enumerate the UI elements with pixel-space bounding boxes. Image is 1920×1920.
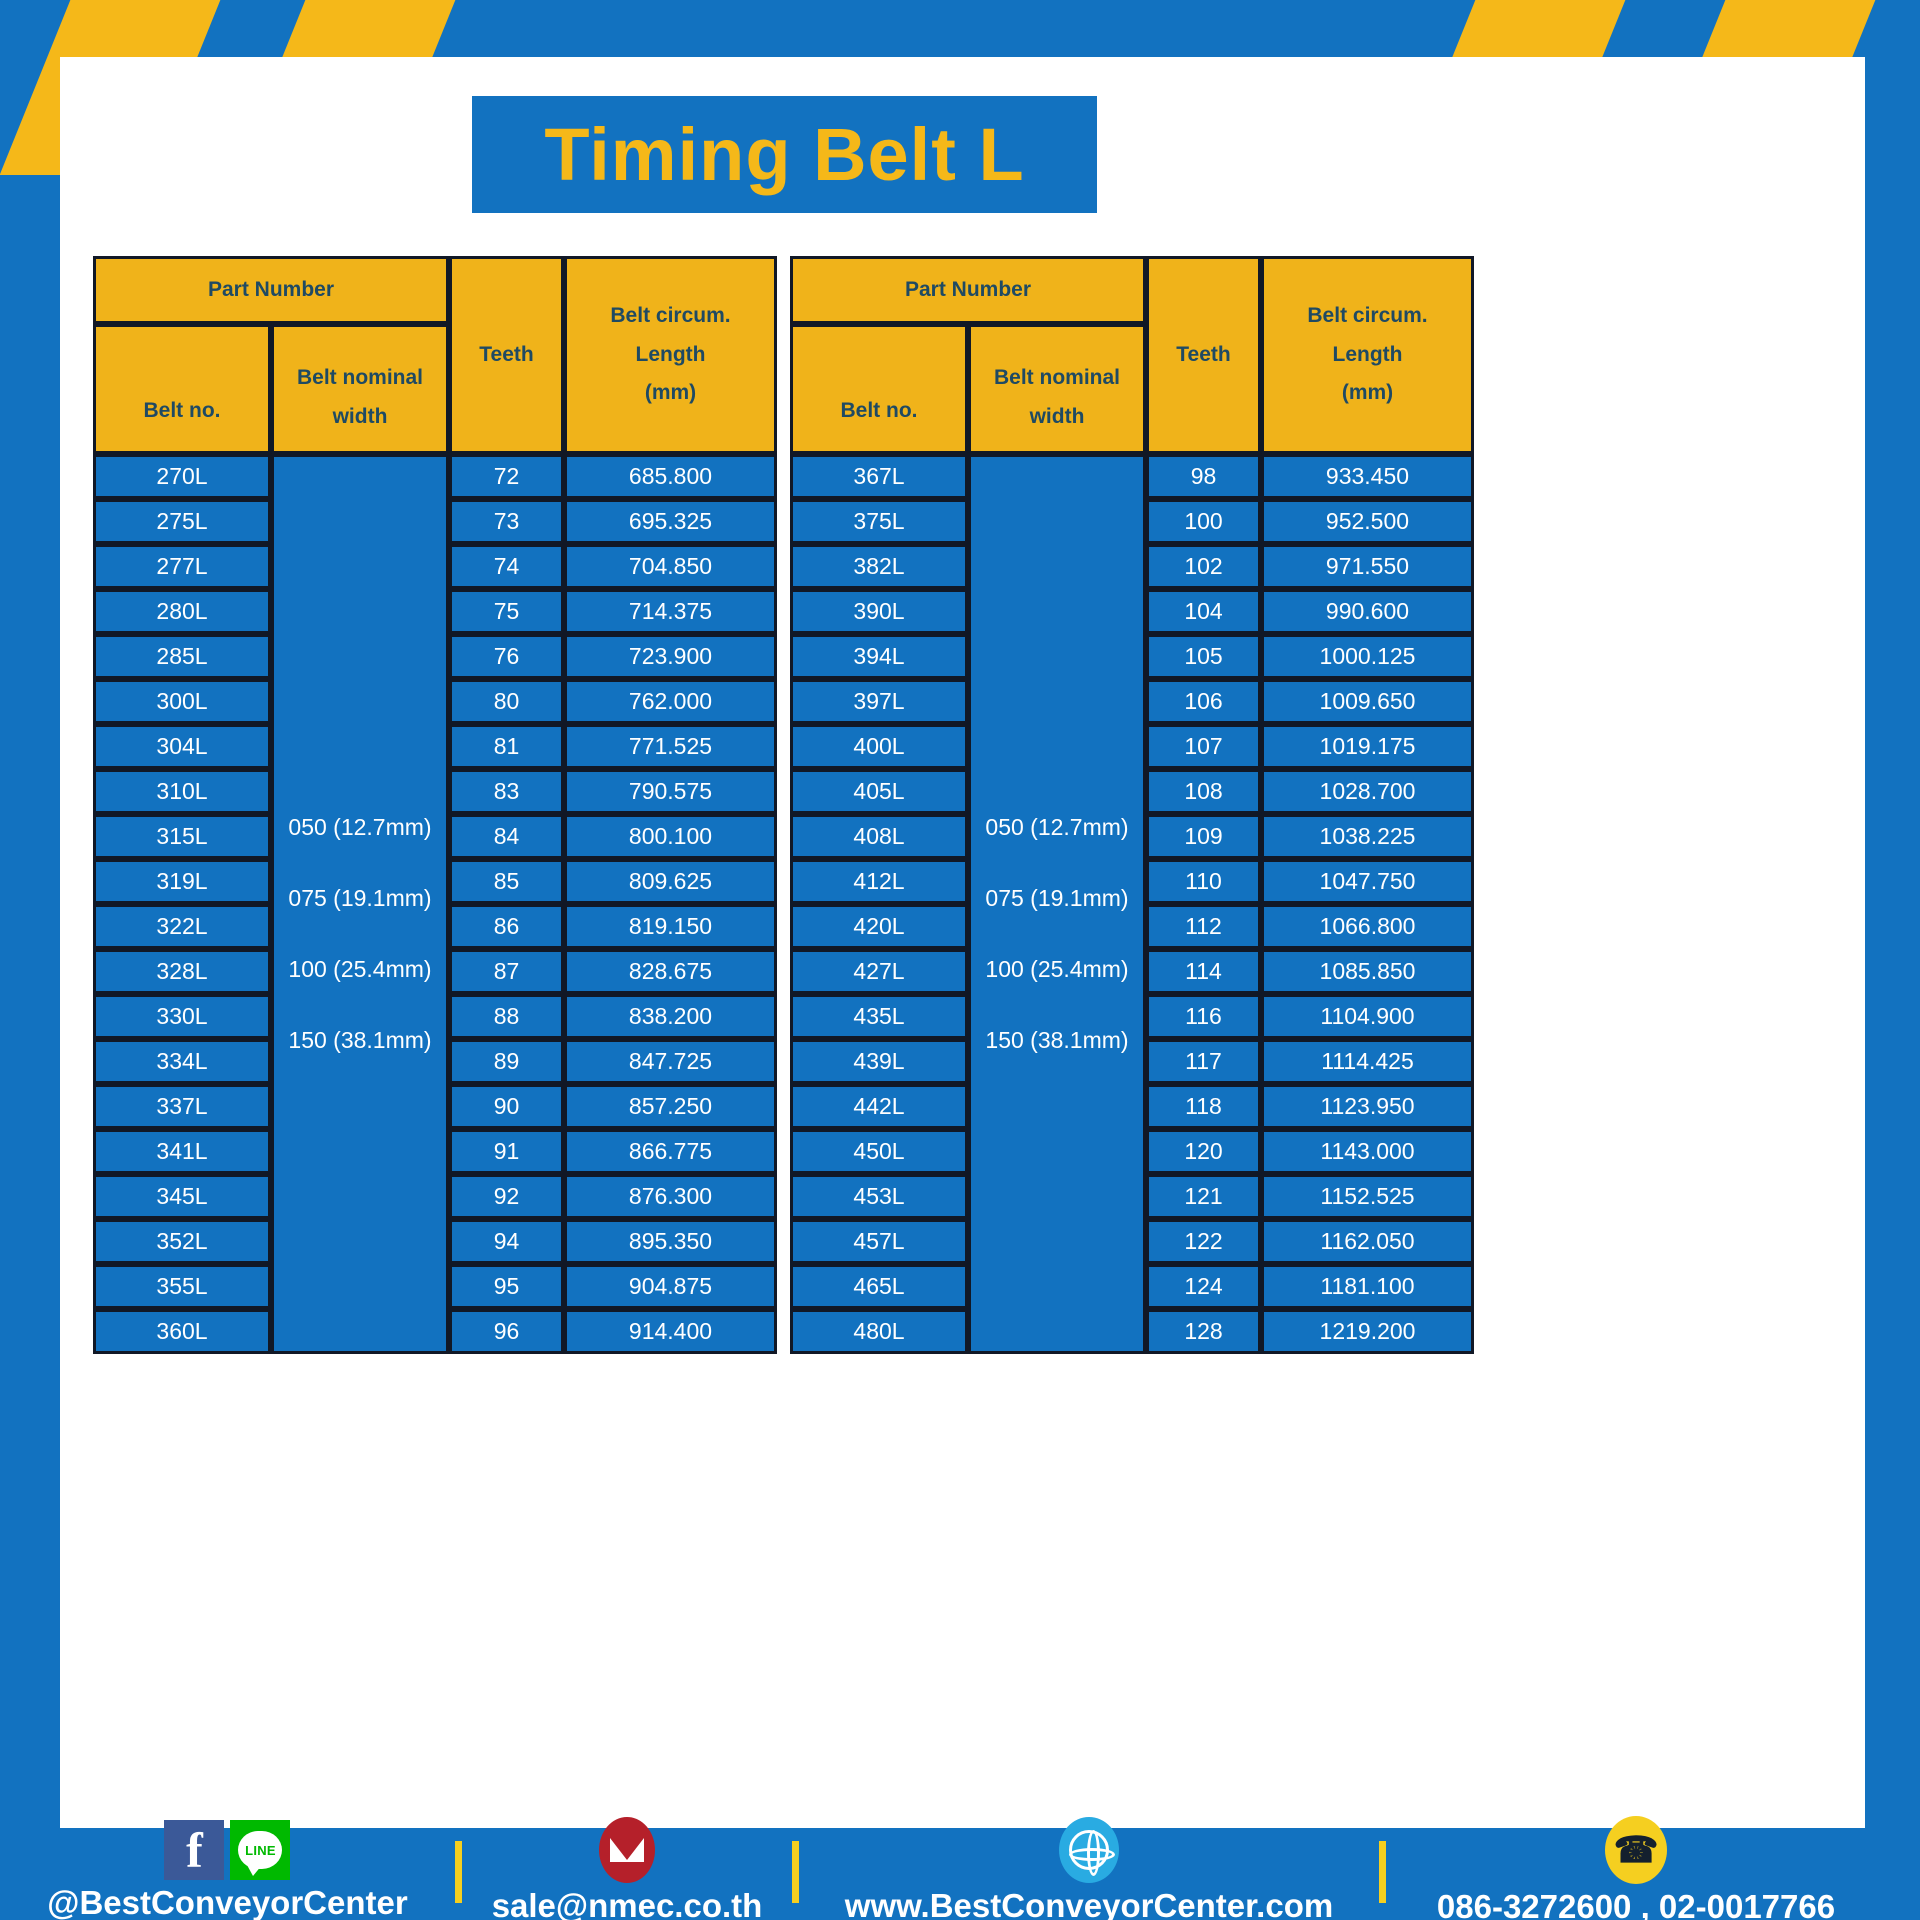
cell-length-mm: 809.625 <box>564 859 777 904</box>
globe-icon[interactable] <box>1059 1817 1119 1883</box>
cell-teeth: 110 <box>1146 859 1261 904</box>
cell-belt-nominal-width: 050 (12.7mm)075 (19.1mm)100 (25.4mm)150 … <box>271 454 449 1354</box>
page-title-box: Timing Belt L <box>472 96 1097 213</box>
header-belt-circum-left: Belt circum. Length (mm) <box>564 256 777 454</box>
cell-length-mm: 857.250 <box>564 1084 777 1129</box>
cell-teeth: 105 <box>1146 634 1261 679</box>
cell-length-mm: 800.100 <box>564 814 777 859</box>
cell-belt-no: 277L <box>93 544 271 589</box>
footer-facebook-group[interactable]: f LINE @BestConveyorCenter <box>0 1828 455 1920</box>
facebook-inner: f LINE @BestConveyorCenter <box>47 1820 407 1920</box>
cell-teeth: 88 <box>449 994 564 1039</box>
cell-belt-no: 270L <box>93 454 271 499</box>
width-option-3: 150 (38.1mm) <box>274 1005 446 1076</box>
cell-teeth: 73 <box>449 499 564 544</box>
width-option-2: 100 (25.4mm) <box>274 934 446 1005</box>
cell-belt-no: 394L <box>790 634 968 679</box>
cell-length-mm: 904.875 <box>564 1264 777 1309</box>
cell-belt-no: 355L <box>93 1264 271 1309</box>
cell-belt-no: 397L <box>790 679 968 724</box>
cell-belt-no: 322L <box>93 904 271 949</box>
facebook-icon[interactable]: f <box>164 1820 224 1880</box>
cell-belt-no: 465L <box>790 1264 968 1309</box>
cell-teeth: 85 <box>449 859 564 904</box>
cell-teeth: 89 <box>449 1039 564 1084</box>
cell-length-mm: 1162.050 <box>1261 1219 1474 1264</box>
cell-belt-no: 275L <box>93 499 271 544</box>
footer-website-group[interactable]: www.BestConveyorCenter.com <box>799 1828 1379 1920</box>
width-option-list: 050 (12.7mm)075 (19.1mm)100 (25.4mm)150 … <box>274 642 446 1166</box>
cell-teeth: 90 <box>449 1084 564 1129</box>
cell-teeth: 91 <box>449 1129 564 1174</box>
header-belt-no-left: Belt no. <box>93 324 271 454</box>
cell-teeth: 107 <box>1146 724 1261 769</box>
cell-teeth: 87 <box>449 949 564 994</box>
width-option-0: 050 (12.7mm) <box>971 792 1143 863</box>
width-option-2: 100 (25.4mm) <box>971 934 1143 1005</box>
header-width-line2-right: width <box>971 398 1143 437</box>
header-belt-width-left: Belt nominal width <box>271 324 449 454</box>
cell-length-mm: 1219.200 <box>1261 1309 1474 1354</box>
footer-divider-2 <box>792 1841 799 1903</box>
cell-teeth: 128 <box>1146 1309 1261 1354</box>
cell-belt-no: 360L <box>93 1309 271 1354</box>
infographic-page: Timing Belt L Part Number Teeth Belt cir… <box>0 0 1920 1920</box>
cell-belt-no: 405L <box>790 769 968 814</box>
line-icon[interactable]: LINE <box>230 1820 290 1880</box>
cell-teeth: 74 <box>449 544 564 589</box>
cell-length-mm: 838.200 <box>564 994 777 1039</box>
phone-icon[interactable]: ☎ <box>1605 1816 1667 1884</box>
cell-length-mm: 771.525 <box>564 724 777 769</box>
cell-teeth: 80 <box>449 679 564 724</box>
cell-length-mm: 914.400 <box>564 1309 777 1354</box>
cell-belt-no: 400L <box>790 724 968 769</box>
cell-length-mm: 933.450 <box>1261 454 1474 499</box>
cell-teeth: 104 <box>1146 589 1261 634</box>
footer-divider-1 <box>455 1841 462 1903</box>
cell-teeth: 84 <box>449 814 564 859</box>
header-circum-line2-right: Length <box>1264 336 1471 375</box>
cell-belt-no: 420L <box>790 904 968 949</box>
width-option-0: 050 (12.7mm) <box>274 792 446 863</box>
footer-bar: f LINE @BestConveyorCenter sale@nmec.co.… <box>0 1828 1920 1920</box>
email-address: sale@nmec.co.th <box>492 1887 763 1920</box>
cell-length-mm: 1038.225 <box>1261 814 1474 859</box>
cell-teeth: 75 <box>449 589 564 634</box>
cell-length-mm: 685.800 <box>564 454 777 499</box>
cell-length-mm: 1009.650 <box>1261 679 1474 724</box>
cell-length-mm: 1181.100 <box>1261 1264 1474 1309</box>
cell-teeth: 98 <box>1146 454 1261 499</box>
cell-length-mm: 895.350 <box>564 1219 777 1264</box>
phone-inner: ☎ 086-3272600 , 02-0017766 <box>1437 1816 1835 1920</box>
cell-belt-no: 450L <box>790 1129 968 1174</box>
cell-belt-no: 315L <box>93 814 271 859</box>
cell-belt-no: 453L <box>790 1174 968 1219</box>
cell-belt-no: 457L <box>790 1219 968 1264</box>
cell-belt-no: 367L <box>790 454 968 499</box>
header-teeth-label-right: Teeth <box>1149 336 1258 375</box>
header-circum-line1-right: Belt circum. <box>1264 297 1471 336</box>
header-belt-circum-right: Belt circum. Length (mm) <box>1261 256 1474 454</box>
table-row: 270L050 (12.7mm)075 (19.1mm)100 (25.4mm)… <box>93 454 777 499</box>
cell-belt-no: 412L <box>790 859 968 904</box>
cell-belt-no: 439L <box>790 1039 968 1084</box>
cell-length-mm: 1123.950 <box>1261 1084 1474 1129</box>
header-teeth-right: Teeth <box>1146 256 1261 454</box>
cell-teeth: 108 <box>1146 769 1261 814</box>
cell-length-mm: 866.775 <box>564 1129 777 1174</box>
cell-teeth: 116 <box>1146 994 1261 1039</box>
width-option-list: 050 (12.7mm)075 (19.1mm)100 (25.4mm)150 … <box>971 642 1143 1166</box>
cell-teeth: 118 <box>1146 1084 1261 1129</box>
cell-teeth: 112 <box>1146 904 1261 949</box>
header-circum-line1-left: Belt circum. <box>567 297 774 336</box>
cell-length-mm: 990.600 <box>1261 589 1474 634</box>
cell-length-mm: 704.850 <box>564 544 777 589</box>
table-head-left: Part Number Teeth Belt circum. Length (m… <box>93 256 777 454</box>
width-option-1: 075 (19.1mm) <box>274 863 446 934</box>
cell-length-mm: 1104.900 <box>1261 994 1474 1039</box>
cell-belt-no: 375L <box>790 499 968 544</box>
cell-belt-no: 337L <box>93 1084 271 1129</box>
line-icon-label: LINE <box>238 1831 282 1869</box>
cell-length-mm: 1000.125 <box>1261 634 1474 679</box>
cell-teeth: 72 <box>449 454 564 499</box>
cell-length-mm: 1066.800 <box>1261 904 1474 949</box>
cell-teeth: 76 <box>449 634 564 679</box>
cell-teeth: 102 <box>1146 544 1261 589</box>
footer-email-group[interactable]: sale@nmec.co.th <box>462 1828 792 1920</box>
email-icon[interactable] <box>599 1817 655 1883</box>
header-teeth-label-left: Teeth <box>452 336 561 375</box>
phone-numbers: 086-3272600 , 02-0017766 <box>1437 1888 1835 1920</box>
cell-belt-no: 341L <box>93 1129 271 1174</box>
table-body-right: 367L050 (12.7mm)075 (19.1mm)100 (25.4mm)… <box>790 454 1474 1354</box>
header-row-top-left: Part Number Teeth Belt circum. Length (m… <box>93 256 777 324</box>
footer-divider-3 <box>1379 1841 1386 1903</box>
website-inner: www.BestConveyorCenter.com <box>845 1817 1333 1920</box>
cell-length-mm: 714.375 <box>564 589 777 634</box>
cell-teeth: 122 <box>1146 1219 1261 1264</box>
cell-teeth: 121 <box>1146 1174 1261 1219</box>
cell-teeth: 114 <box>1146 949 1261 994</box>
cell-teeth: 106 <box>1146 679 1261 724</box>
header-width-line2-left: width <box>274 398 446 437</box>
header-belt-no-label-right: Belt no. <box>793 348 965 431</box>
cell-teeth: 100 <box>1146 499 1261 544</box>
cell-teeth: 92 <box>449 1174 564 1219</box>
width-option-1: 075 (19.1mm) <box>971 863 1143 934</box>
cell-belt-no: 328L <box>93 949 271 994</box>
header-width-line1-right: Belt nominal <box>971 341 1143 398</box>
table-body-left: 270L050 (12.7mm)075 (19.1mm)100 (25.4mm)… <box>93 454 777 1354</box>
belt-table-left: Part Number Teeth Belt circum. Length (m… <box>93 256 777 1354</box>
header-width-line1-left: Belt nominal <box>274 341 446 398</box>
page-title: Timing Belt L <box>544 118 1024 192</box>
cell-teeth: 120 <box>1146 1129 1261 1174</box>
cell-length-mm: 1047.750 <box>1261 859 1474 904</box>
header-circum-line3-right: (mm) <box>1264 374 1471 413</box>
header-belt-width-right: Belt nominal width <box>968 324 1146 454</box>
cell-length-mm: 828.675 <box>564 949 777 994</box>
website-url: www.BestConveyorCenter.com <box>845 1887 1333 1920</box>
cell-length-mm: 762.000 <box>564 679 777 724</box>
cell-belt-no: 435L <box>790 994 968 1039</box>
cell-length-mm: 1028.700 <box>1261 769 1474 814</box>
cell-belt-no: 480L <box>790 1309 968 1354</box>
cell-length-mm: 847.725 <box>564 1039 777 1084</box>
header-circum-line3-left: (mm) <box>567 374 774 413</box>
cell-belt-no: 330L <box>93 994 271 1039</box>
cell-teeth: 109 <box>1146 814 1261 859</box>
header-part-number-left: Part Number <box>93 256 449 324</box>
facebook-handle: @BestConveyorCenter <box>47 1884 407 1920</box>
table-row: 367L050 (12.7mm)075 (19.1mm)100 (25.4mm)… <box>790 454 1474 499</box>
header-belt-no-label-left: Belt no. <box>96 348 268 431</box>
cell-belt-no: 442L <box>790 1084 968 1129</box>
cell-length-mm: 1019.175 <box>1261 724 1474 769</box>
cell-teeth: 86 <box>449 904 564 949</box>
cell-belt-no: 300L <box>93 679 271 724</box>
cell-teeth: 94 <box>449 1219 564 1264</box>
cell-length-mm: 971.550 <box>1261 544 1474 589</box>
width-option-3: 150 (38.1mm) <box>971 1005 1143 1076</box>
header-belt-no-right: Belt no. <box>790 324 968 454</box>
header-row-top-right: Part Number Teeth Belt circum. Length (m… <box>790 256 1474 324</box>
cell-length-mm: 695.325 <box>564 499 777 544</box>
header-circum-line2-left: Length <box>567 336 774 375</box>
cell-belt-no: 310L <box>93 769 271 814</box>
header-teeth-left: Teeth <box>449 256 564 454</box>
cell-belt-no: 390L <box>790 589 968 634</box>
cell-belt-no: 382L <box>790 544 968 589</box>
cell-belt-no: 304L <box>93 724 271 769</box>
cell-belt-no: 345L <box>93 1174 271 1219</box>
cell-belt-nominal-width: 050 (12.7mm)075 (19.1mm)100 (25.4mm)150 … <box>968 454 1146 1354</box>
cell-length-mm: 1114.425 <box>1261 1039 1474 1084</box>
cell-length-mm: 790.575 <box>564 769 777 814</box>
table-head-right: Part Number Teeth Belt circum. Length (m… <box>790 256 1474 454</box>
cell-length-mm: 819.150 <box>564 904 777 949</box>
cell-teeth: 117 <box>1146 1039 1261 1084</box>
cell-length-mm: 1152.525 <box>1261 1174 1474 1219</box>
cell-length-mm: 876.300 <box>564 1174 777 1219</box>
cell-belt-no: 319L <box>93 859 271 904</box>
email-inner: sale@nmec.co.th <box>492 1817 763 1920</box>
cell-length-mm: 1085.850 <box>1261 949 1474 994</box>
cell-belt-no: 352L <box>93 1219 271 1264</box>
belt-table-right: Part Number Teeth Belt circum. Length (m… <box>790 256 1474 1354</box>
cell-belt-no: 334L <box>93 1039 271 1084</box>
cell-teeth: 96 <box>449 1309 564 1354</box>
cell-belt-no: 427L <box>790 949 968 994</box>
header-part-number-right: Part Number <box>790 256 1146 324</box>
social-icon-row: f LINE <box>164 1820 290 1880</box>
footer-phone-group[interactable]: ☎ 086-3272600 , 02-0017766 <box>1386 1828 1886 1920</box>
cell-length-mm: 1143.000 <box>1261 1129 1474 1174</box>
cell-teeth: 95 <box>449 1264 564 1309</box>
cell-belt-no: 285L <box>93 634 271 679</box>
cell-length-mm: 723.900 <box>564 634 777 679</box>
cell-teeth: 124 <box>1146 1264 1261 1309</box>
cell-teeth: 81 <box>449 724 564 769</box>
cell-teeth: 83 <box>449 769 564 814</box>
cell-belt-no: 408L <box>790 814 968 859</box>
cell-belt-no: 280L <box>93 589 271 634</box>
cell-length-mm: 952.500 <box>1261 499 1474 544</box>
